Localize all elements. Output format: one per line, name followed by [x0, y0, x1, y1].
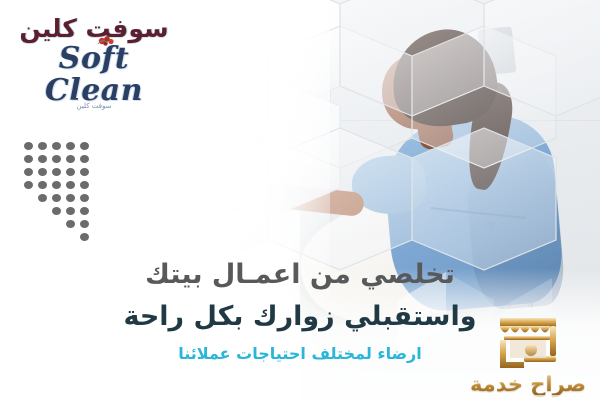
dot-row [24, 194, 89, 202]
dot [66, 194, 75, 202]
uniform-button [487, 222, 495, 230]
dot-row [24, 168, 89, 176]
dot [80, 181, 89, 189]
headline-line-1: تخلصي من اعمـال بيتك [16, 258, 584, 292]
dot-row [24, 220, 89, 228]
dot-row [24, 155, 89, 163]
dot-row [24, 181, 89, 189]
logo-arabic-name: سوفت كلين [14, 16, 174, 41]
dot [52, 207, 61, 215]
dot [80, 155, 89, 163]
dot [52, 168, 61, 176]
dot [52, 155, 61, 163]
dot [52, 181, 61, 189]
dot [66, 168, 75, 176]
dot [38, 181, 47, 189]
dot [80, 220, 89, 228]
dot-row [24, 233, 89, 241]
dot [80, 207, 89, 215]
dot [66, 207, 75, 215]
logo-english-name: Soft Clean [14, 43, 174, 106]
flower-icon [96, 35, 118, 47]
dot [38, 142, 47, 150]
dot [80, 194, 89, 202]
dot-pattern-decoration [24, 142, 89, 246]
watermark-logo[interactable]: صراح خدمة [466, 312, 590, 396]
dot [24, 168, 33, 176]
dot [80, 168, 89, 176]
dot [24, 155, 33, 163]
storefront-awning-icon [474, 312, 582, 370]
dot [38, 155, 47, 163]
dot [52, 142, 61, 150]
brand-logo[interactable]: سوفت كلين Soft Clean سوفت كلين [14, 16, 174, 108]
dot [80, 142, 89, 150]
dot [66, 220, 75, 228]
dot [52, 194, 61, 202]
dot [38, 194, 47, 202]
watermark-label: صراح خدمة [466, 374, 590, 395]
dot-row [24, 142, 89, 150]
dot-row [24, 207, 89, 215]
ad-banner: سوفت كلين Soft Clean سوفت كلين تخلصي من … [0, 0, 600, 400]
logo-english-text: Soft Clean [45, 41, 143, 108]
dot [66, 155, 75, 163]
dot [24, 181, 33, 189]
dot [66, 181, 75, 189]
dot [66, 142, 75, 150]
dot [24, 142, 33, 150]
dot [38, 168, 47, 176]
dot [80, 233, 89, 241]
